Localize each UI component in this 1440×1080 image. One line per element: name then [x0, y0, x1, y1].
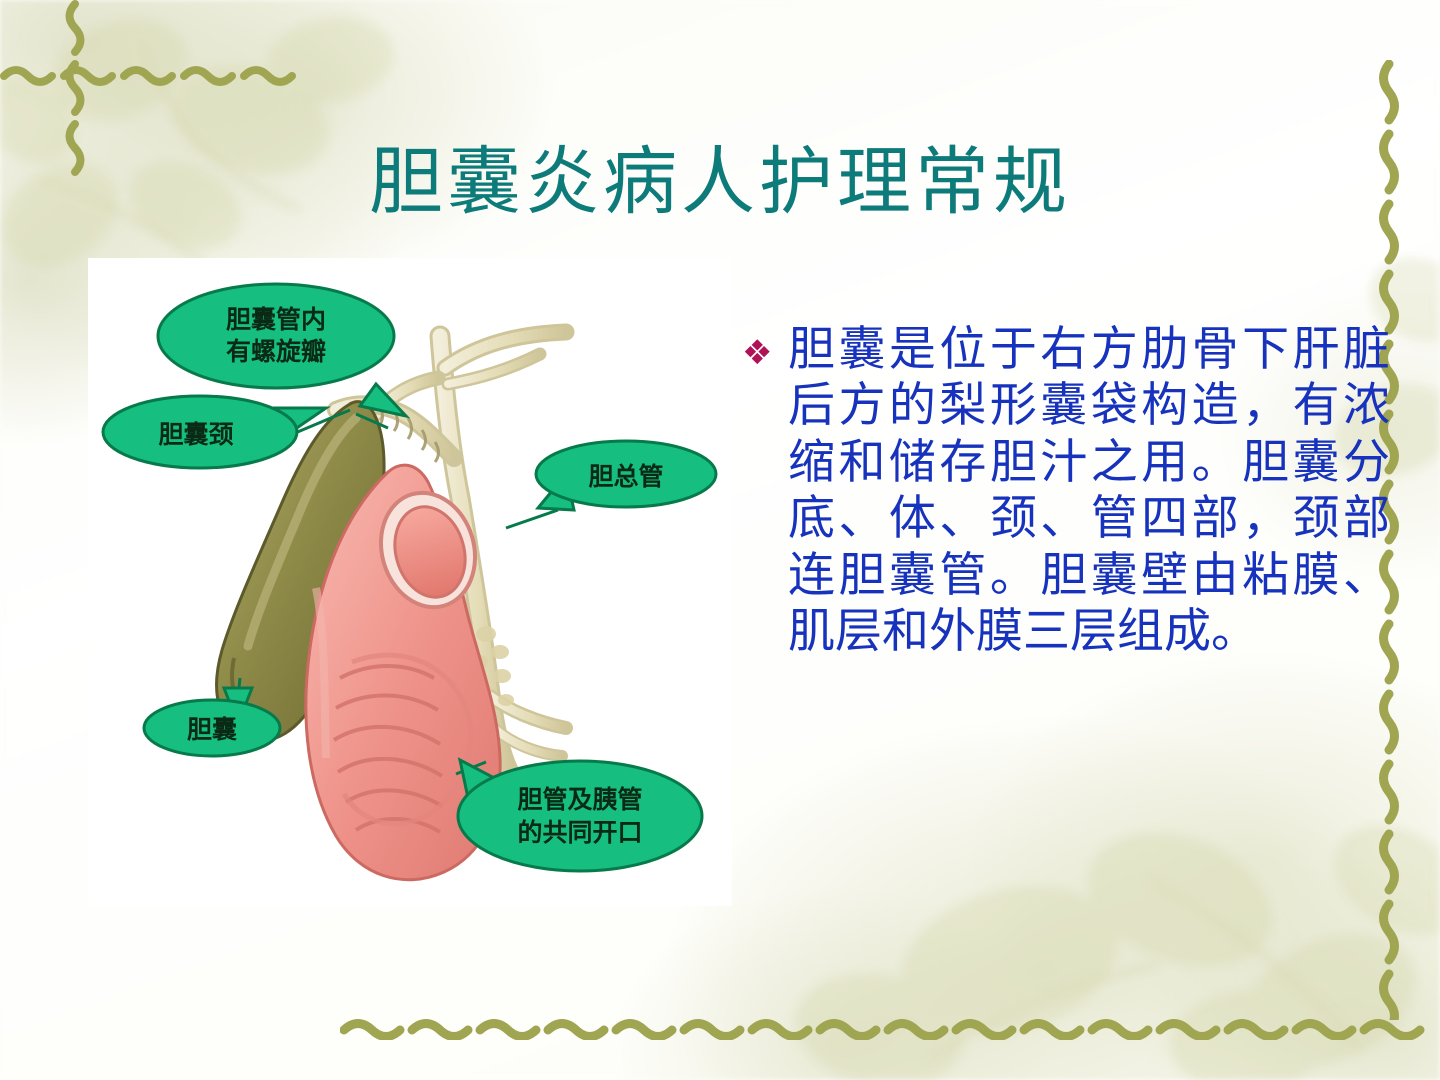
gallbladder-anatomy-figure: 胆囊管内 有螺旋瓣 胆囊颈 胆总管 胆囊 胆管及胰管 — [88, 258, 732, 906]
slide-title: 胆囊炎病人护理常规 — [0, 146, 1440, 220]
body-paragraph: 胆囊是位于右方肋骨下肝脏后方的梨形囊袋构造，有浓缩和储存胆汁之用。胆囊分底、体、… — [788, 322, 1390, 660]
callout-label-line1: 胆囊 — [187, 715, 237, 744]
callout-label-line1: 胆总管 — [588, 462, 663, 491]
callout-common-opening: 胆管及胰管 的共同开口 — [458, 760, 702, 871]
callout-label-line1: 胆囊管内 — [226, 305, 326, 334]
callout-label-line1: 胆囊颈 — [158, 420, 233, 449]
border-top-horizontal — [0, 60, 300, 86]
callout-label-line2: 的共同开口 — [517, 818, 642, 847]
body-text-block: ❖ 胆囊是位于右方肋骨下肝脏后方的梨形囊袋构造，有浓缩和储存胆汁之用。胆囊分底、… — [742, 322, 1390, 660]
border-bottom-horizontal — [340, 1014, 1440, 1040]
slide-canvas: 胆囊炎病人护理常规 — [0, 0, 1440, 1080]
diamond-bullet-icon: ❖ — [742, 322, 788, 372]
callout-label-line1: 胆管及胰管 — [517, 785, 642, 814]
callout-label-line2: 有螺旋瓣 — [226, 337, 326, 366]
